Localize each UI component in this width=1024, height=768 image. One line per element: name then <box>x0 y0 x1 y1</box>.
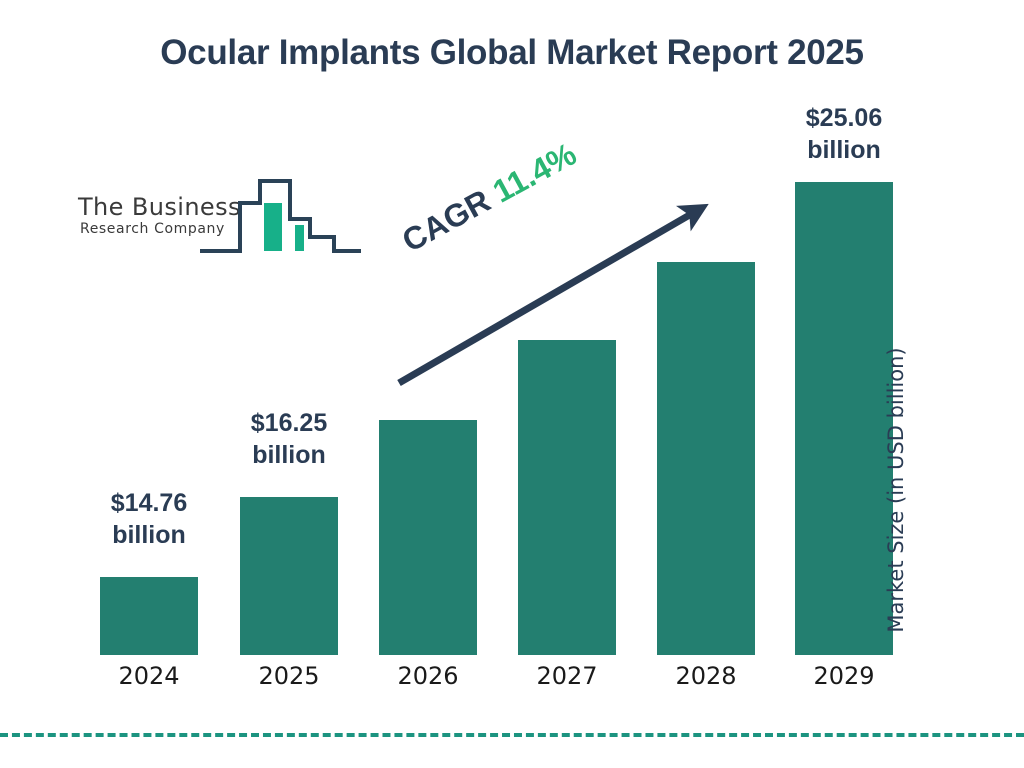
x-axis-label-2027: 2027 <box>507 662 627 690</box>
bar-value-2025-line1: $16.25 <box>219 407 359 439</box>
bar-value-2025: $16.25 billion <box>219 407 359 471</box>
y-axis-title: Market Size (in USD billion) <box>884 320 908 660</box>
cagr-value: 11.4% <box>487 136 582 210</box>
bar-value-2025-line2: billion <box>219 439 359 471</box>
x-axis-label-2025: 2025 <box>229 662 349 690</box>
bar-chart-plot-area: $14.76 billion $16.25 billion $25.06 bil… <box>0 0 1024 768</box>
cagr-annotation: CAGR 11.4% <box>396 136 582 260</box>
bar-2028 <box>657 262 755 655</box>
bar-2026 <box>379 420 477 655</box>
cagr-label: CAGR <box>396 182 496 259</box>
bar-value-2024-line2: billion <box>79 519 219 551</box>
bar-2029 <box>795 182 893 655</box>
bar-2027 <box>518 340 616 655</box>
x-axis-label-2028: 2028 <box>646 662 766 690</box>
x-axis-label-2024: 2024 <box>89 662 209 690</box>
bar-value-2024-line1: $14.76 <box>79 487 219 519</box>
x-axis-label-2029: 2029 <box>784 662 904 690</box>
bar-value-2029-line2: billion <box>774 134 914 166</box>
bar-value-2029: $25.06 billion <box>774 102 914 166</box>
bar-value-2029-line1: $25.06 <box>774 102 914 134</box>
footer-divider <box>0 733 1024 737</box>
bar-2024 <box>100 577 198 655</box>
x-axis-label-2026: 2026 <box>368 662 488 690</box>
chart-canvas: Ocular Implants Global Market Report 202… <box>0 0 1024 768</box>
bar-2025 <box>240 497 338 655</box>
bar-value-2024: $14.76 billion <box>79 487 219 551</box>
